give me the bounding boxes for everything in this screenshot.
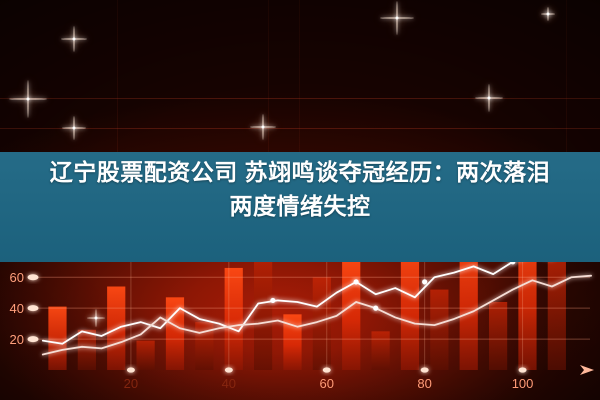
chart-y-tick-label: 20 [10, 332, 24, 347]
chart-y-tick-label: 40 [10, 301, 24, 316]
chart-bar [78, 330, 96, 370]
chart-x-tick [323, 367, 331, 372]
chart-x-tick-label: 40 [222, 376, 236, 391]
screenshot-root: 2040608010020406080100 辽宁股票配资公司 苏翊鸣谈夺冠经历… [0, 0, 600, 400]
chart-y-tick-label: 60 [10, 270, 24, 285]
chart-bar [401, 249, 419, 370]
chart-y-tick [28, 336, 39, 342]
chart-bar [371, 331, 389, 370]
chart-x-tick [225, 367, 233, 372]
chart-x-tick [421, 367, 429, 372]
chart-bar [136, 341, 154, 370]
chart-bar [342, 259, 360, 370]
chart-bar [195, 322, 213, 370]
chart-bar [225, 268, 243, 370]
headline-line-1: 辽宁股票配资公司 苏翊鸣谈夺冠经历：两次落泪 [50, 159, 550, 185]
chart-data-point [354, 279, 359, 284]
chart-data-point [373, 306, 378, 311]
chart-x-tick-label: 60 [320, 376, 334, 391]
chart-bar [430, 290, 448, 370]
chart-x-tick-label: 100 [512, 376, 534, 391]
chart-y-tick [28, 305, 39, 311]
chart-x-tick [519, 367, 527, 372]
chart-bar [548, 262, 566, 370]
chart-bar [489, 302, 507, 370]
page-title: 辽宁股票配资公司 苏翊鸣谈夺冠经历：两次落泪 两度情绪失控 [0, 155, 600, 223]
chart-data-point [270, 298, 275, 303]
chart-x-tick-label: 80 [417, 376, 431, 391]
chart-x-tick [127, 367, 135, 372]
chart-y-tick [28, 274, 39, 280]
chart-bar [313, 277, 331, 370]
chart-data-point [422, 279, 427, 284]
chart-x-tick-label: 20 [124, 376, 138, 391]
chart-bar [48, 307, 66, 370]
headline-line-2: 两度情绪失控 [0, 189, 600, 223]
